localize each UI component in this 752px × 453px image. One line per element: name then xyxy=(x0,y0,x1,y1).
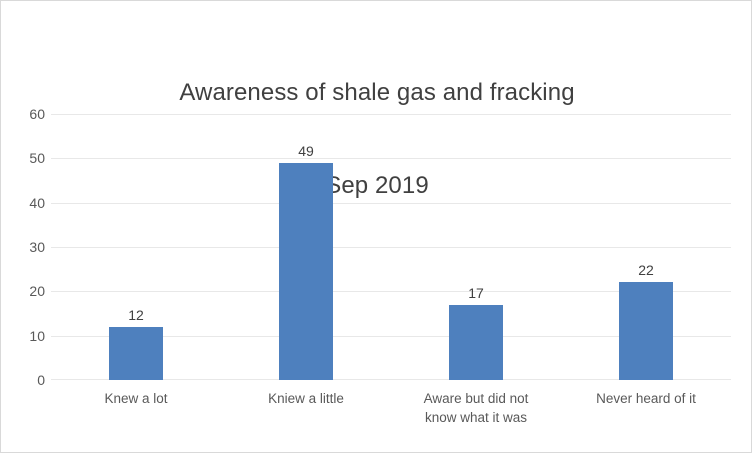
chart-title-line-1: Awareness of shale gas and fracking xyxy=(1,77,752,108)
x-category-label-1-line-1: Knew a lot xyxy=(51,389,221,408)
bar-chart: Awareness of shale gas and fracking Sep … xyxy=(0,0,752,453)
x-category-label-2-line-1: Kniew a little xyxy=(221,389,391,408)
bar-kniew-a-little[interactable] xyxy=(279,163,333,380)
x-axis-labels: Knew a lot Kniew a little Aware but did … xyxy=(51,389,731,441)
y-tick-label-30: 30 xyxy=(11,240,45,254)
bar-group-2: 49 xyxy=(221,114,391,380)
y-tick-label-60: 60 xyxy=(11,107,45,121)
plot-area: 12 49 17 22 xyxy=(51,114,731,380)
x-category-label-3: Aware but did not know what it was xyxy=(391,389,561,427)
bar-value-label-3: 17 xyxy=(416,285,536,301)
x-category-label-4: Never heard of it xyxy=(561,389,731,408)
bar-group-4: 22 xyxy=(561,114,731,380)
y-tick-label-20: 20 xyxy=(11,284,45,298)
bar-group-1: 12 xyxy=(51,114,221,380)
bar-aware-but-did-not-know[interactable] xyxy=(449,305,503,380)
y-tick-label-40: 40 xyxy=(11,196,45,210)
bar-value-label-1: 12 xyxy=(76,307,196,323)
y-tick-label-0: 0 xyxy=(11,373,45,387)
x-category-label-2: Kniew a little xyxy=(221,389,391,408)
x-category-label-3-line-2: know what it was xyxy=(391,408,561,427)
x-category-label-3-line-1: Aware but did not xyxy=(391,389,561,408)
bar-group-3: 17 xyxy=(391,114,561,380)
bar-value-label-4: 22 xyxy=(586,262,706,278)
bar-never-heard-of-it[interactable] xyxy=(619,282,673,380)
x-category-label-4-line-1: Never heard of it xyxy=(561,389,731,408)
y-axis: 60 50 40 30 20 10 0 xyxy=(1,114,45,380)
bar-value-label-2: 49 xyxy=(246,143,366,159)
y-tick-label-10: 10 xyxy=(11,329,45,343)
bar-knew-a-lot[interactable] xyxy=(109,327,163,380)
y-tick-label-50: 50 xyxy=(11,151,45,165)
x-category-label-1: Knew a lot xyxy=(51,389,221,408)
